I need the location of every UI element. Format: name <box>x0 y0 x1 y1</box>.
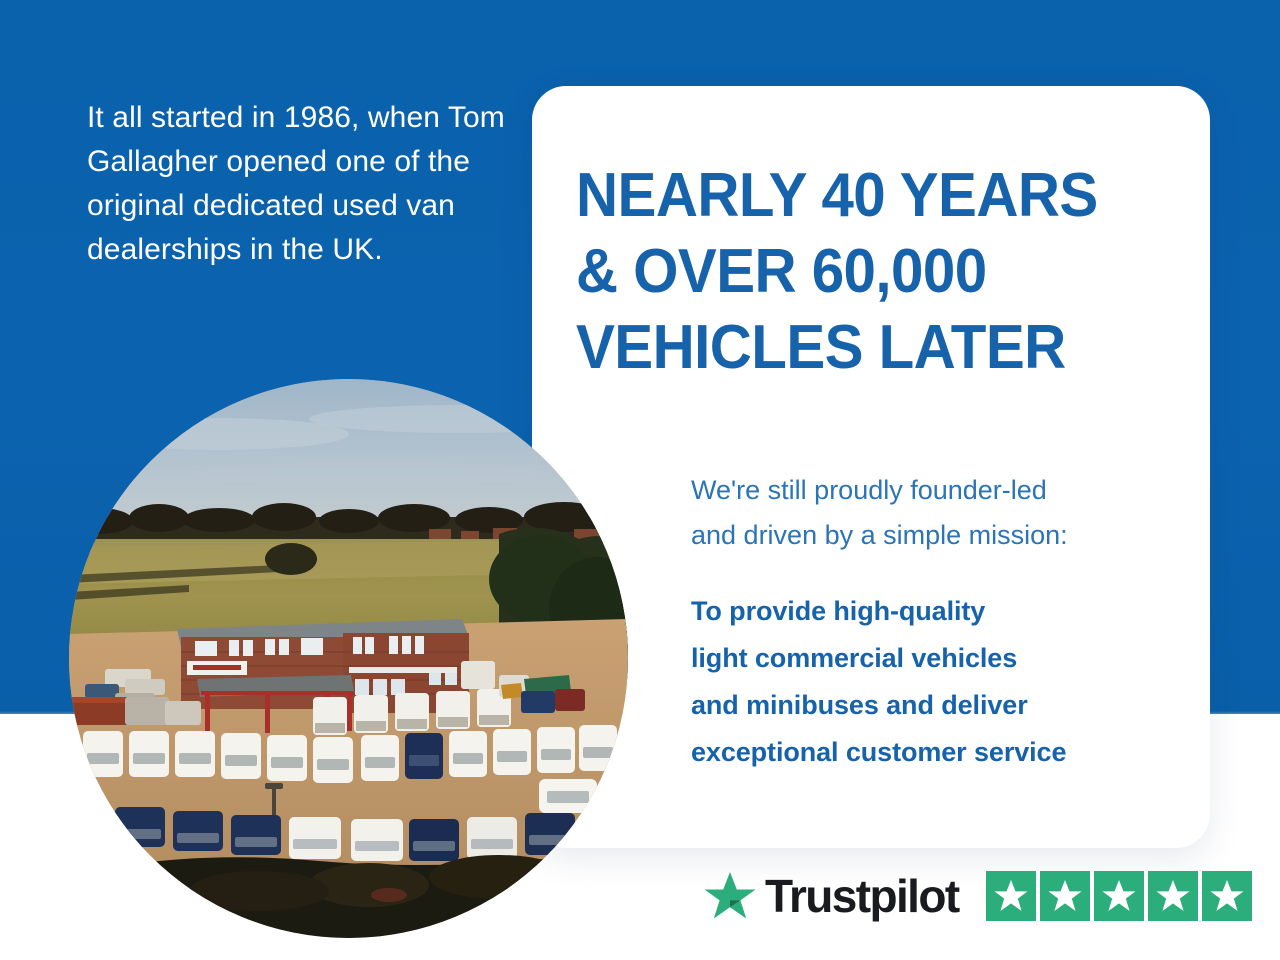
dealership-photo <box>69 379 628 938</box>
trustpilot-logo[interactable]: Trustpilot <box>703 870 959 922</box>
star-tile-1 <box>986 871 1036 921</box>
star-tile-3 <box>1094 871 1144 921</box>
infographic-page: It all started in 1986, when Tom Gallagh… <box>0 0 1280 960</box>
intro-paragraph: It all started in 1986, when Tom Gallagh… <box>87 96 507 272</box>
star-tile-5 <box>1202 871 1252 921</box>
star-tile-4 <box>1148 871 1198 921</box>
star-icon <box>993 879 1029 913</box>
trustpilot-star-icon <box>703 870 757 922</box>
dealership-photo-illustration <box>69 379 628 938</box>
subheading-text: We're still proudly founder-led and driv… <box>691 468 1191 558</box>
star-icon <box>1209 879 1245 913</box>
headline: NEARLY 40 YEARS & OVER 60,000 VEHICLES L… <box>576 158 1159 386</box>
star-icon <box>1101 879 1137 913</box>
trustpilot-star-rating <box>986 871 1252 921</box>
star-icon <box>1047 879 1083 913</box>
mission-statement: To provide high-quality light commercial… <box>691 588 1191 776</box>
star-icon <box>1155 879 1191 913</box>
trustpilot-rating[interactable]: Trustpilot <box>703 866 1252 926</box>
trustpilot-wordmark: Trustpilot <box>765 873 959 919</box>
star-tile-2 <box>1040 871 1090 921</box>
content-card: NEARLY 40 YEARS & OVER 60,000 VEHICLES L… <box>532 86 1210 848</box>
